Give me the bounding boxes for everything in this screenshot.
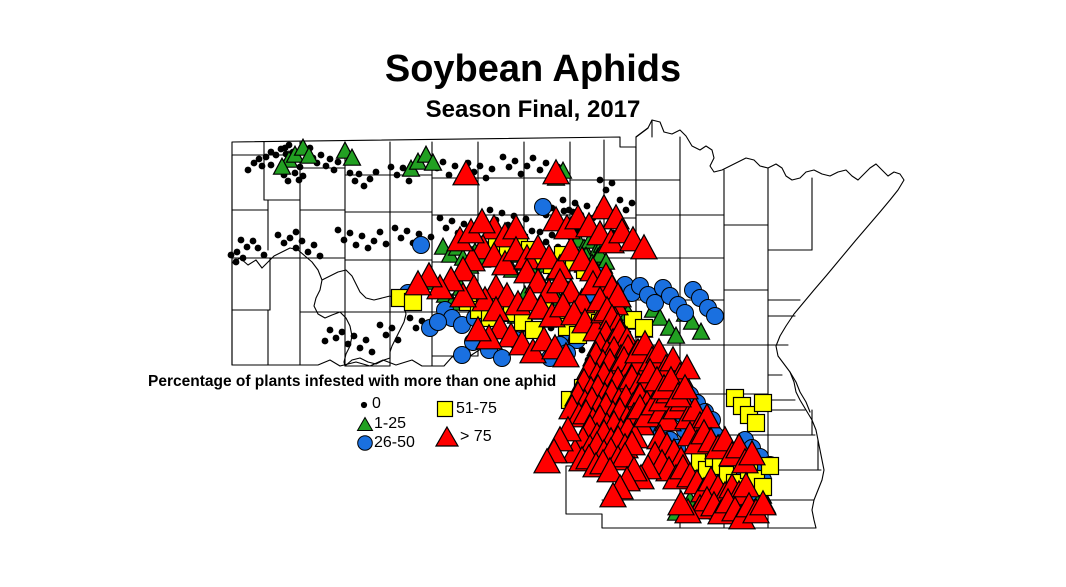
- sample-point-26-50: [707, 308, 724, 325]
- sample-point-0: [413, 325, 420, 332]
- sample-point-0: [352, 178, 359, 185]
- sample-point-0: [371, 238, 378, 245]
- sample-point-0: [351, 333, 358, 340]
- sample-point-0: [323, 163, 330, 170]
- sample-point-0: [281, 240, 288, 247]
- sample-point-0: [394, 172, 401, 179]
- sample-point-0: [245, 167, 252, 174]
- sample-point-0: [477, 163, 484, 170]
- legend-label-gt-75: > 75: [460, 429, 492, 445]
- sample-point-0: [293, 245, 300, 252]
- sample-point-0: [377, 229, 384, 236]
- sample-point-0: [300, 173, 307, 180]
- sample-point-51-75: [755, 395, 772, 412]
- sample-point-0: [234, 249, 241, 256]
- sample-point-0: [440, 159, 447, 166]
- sample-point-0: [428, 234, 435, 241]
- sample-point-0: [377, 322, 384, 329]
- sample-point-0: [353, 242, 360, 249]
- sample-point-0: [603, 187, 610, 194]
- sample-point-0: [285, 178, 292, 185]
- sample-point-0: [449, 218, 456, 225]
- sample-point-0: [500, 154, 507, 161]
- sample-point-0: [367, 176, 374, 183]
- sample-point-0: [250, 238, 257, 245]
- sample-point-0: [356, 171, 363, 178]
- sample-point-0: [311, 242, 318, 249]
- sample-point-0: [293, 229, 300, 236]
- legend: 0 1-25 26-50 51-75 > 75: [356, 396, 536, 454]
- aphid-sample-points: [0, 0, 1066, 587]
- legend-item-26-50[interactable]: 26-50: [356, 434, 415, 452]
- sample-point-0: [341, 237, 348, 244]
- sample-point-26-50: [677, 305, 694, 322]
- sample-point-0: [263, 154, 270, 161]
- sample-point-0: [238, 237, 245, 244]
- sample-point-0: [359, 233, 366, 240]
- sample-point-0: [275, 232, 282, 239]
- sample-point-0: [629, 200, 636, 207]
- sample-point-0: [317, 253, 324, 260]
- dot-icon: [356, 396, 372, 412]
- sample-point-0: [339, 329, 346, 336]
- sample-point-0: [228, 252, 235, 259]
- sample-point-0: [524, 163, 531, 170]
- sample-point-0: [584, 203, 591, 210]
- sample-point-0: [383, 332, 390, 339]
- sample-point-26-50: [494, 350, 511, 367]
- sample-point-0: [537, 167, 544, 174]
- sample-point-0: [305, 249, 312, 256]
- sample-point-0: [529, 228, 536, 235]
- sample-point-0: [244, 244, 251, 251]
- sample-point-0: [404, 228, 411, 235]
- sample-point-0: [487, 207, 494, 214]
- sample-point-0: [395, 337, 402, 344]
- sample-point-0: [560, 197, 567, 204]
- sample-point-51-75: [405, 294, 422, 311]
- sample-point-0: [398, 235, 405, 242]
- yellow-square-icon: [434, 398, 456, 420]
- sample-point-0: [259, 163, 266, 170]
- sample-point-0: [609, 180, 616, 187]
- sample-point-0: [318, 152, 325, 159]
- sample-point-51-75: [748, 415, 765, 432]
- sample-point-0: [357, 345, 364, 352]
- sample-point-0: [347, 230, 354, 237]
- sample-point-0: [512, 158, 519, 165]
- sample-point-0: [287, 235, 294, 242]
- sample-point-0: [392, 225, 399, 232]
- map-container: [0, 0, 1066, 587]
- sample-point-0: [543, 160, 550, 167]
- legend-label-0: 0: [372, 396, 381, 412]
- legend-label-26-50: 26-50: [374, 435, 415, 451]
- legend-item-gt-75[interactable]: > 75: [434, 424, 492, 450]
- sample-point-0: [347, 170, 354, 177]
- sample-point-0: [623, 207, 630, 214]
- sample-point-0: [363, 337, 370, 344]
- poster-canvas: Soybean Aphids Season Final, 2017: [0, 0, 1066, 587]
- sample-point-0: [506, 164, 513, 171]
- sample-point-0: [273, 152, 280, 159]
- sample-point-0: [518, 171, 525, 178]
- sample-point-26-50: [647, 295, 664, 312]
- sample-point-0: [299, 238, 306, 245]
- sample-point-0: [523, 216, 530, 223]
- sample-point-0: [335, 159, 342, 166]
- sample-point-0: [483, 175, 490, 182]
- sample-point-0: [335, 227, 342, 234]
- sample-point-0: [286, 142, 293, 149]
- sample-point-0: [361, 183, 368, 190]
- blue-circle-icon: [356, 434, 374, 452]
- sample-point-0: [233, 259, 240, 266]
- green-triangle-icon: [356, 415, 374, 433]
- sample-point-0: [452, 163, 459, 170]
- sample-point-0: [617, 197, 624, 204]
- sample-point-0: [255, 245, 262, 252]
- sample-point-26-50: [535, 199, 552, 216]
- legend-label-51-75: 51-75: [456, 401, 497, 417]
- sample-point-0: [251, 160, 258, 167]
- sample-point-0: [345, 341, 352, 348]
- sample-point-0: [446, 172, 453, 179]
- sample-point-0: [443, 225, 450, 232]
- sample-point-0: [327, 156, 334, 163]
- sample-point-0: [530, 155, 537, 162]
- sample-point-0: [333, 335, 340, 342]
- sample-point-0: [365, 245, 372, 252]
- sample-point-0: [369, 349, 376, 356]
- sample-point-51-75: [762, 458, 779, 475]
- legend-label-1-25: 1-25: [374, 416, 406, 432]
- sample-point-0: [388, 164, 395, 171]
- sample-point-0: [406, 178, 413, 185]
- sample-point-0: [268, 162, 275, 169]
- sample-point-0: [407, 315, 414, 322]
- sample-point-0: [437, 215, 444, 222]
- sample-point-0: [389, 325, 396, 332]
- sample-point-0: [240, 255, 247, 262]
- sample-point-0: [292, 170, 299, 177]
- red-triangle-icon: [434, 424, 460, 450]
- sample-point-0: [373, 169, 380, 176]
- sample-point-26-50: [413, 237, 430, 254]
- legend-caption: Percentage of plants infested with more …: [148, 373, 556, 391]
- sample-point-0: [499, 210, 506, 217]
- sample-point-26-50: [430, 314, 447, 331]
- sample-point-0: [327, 327, 334, 334]
- legend-item-0[interactable]: 0: [356, 396, 381, 412]
- sample-point-0: [261, 252, 268, 259]
- sample-point-0: [597, 177, 604, 184]
- sample-point-0: [383, 241, 390, 248]
- sample-point-0: [489, 166, 496, 173]
- legend-item-1-25[interactable]: 1-25: [356, 415, 406, 433]
- legend-item-51-75[interactable]: 51-75: [434, 398, 497, 420]
- sample-point-0: [331, 167, 338, 174]
- sample-point-0: [322, 338, 329, 345]
